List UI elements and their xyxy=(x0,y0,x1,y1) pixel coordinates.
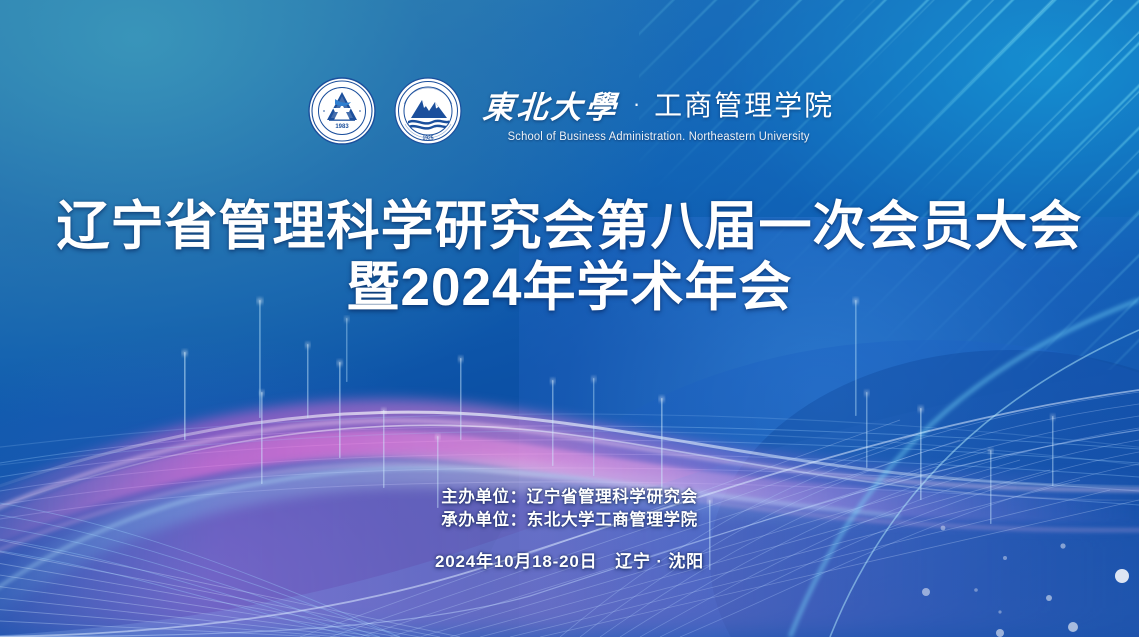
university-name-block: 東北大學 · 工商管理学院 School of Business Adminis… xyxy=(483,80,834,143)
organizer-organization-line: 承办单位：东北大学工商管理学院 xyxy=(0,509,1139,532)
svg-text:1983: 1983 xyxy=(335,124,349,130)
name-separator-dot: · xyxy=(631,93,642,115)
footer-info-block: 主办单位：辽宁省管理科学研究会 承办单位：东北大学工商管理学院 2024年10月… xyxy=(0,486,1139,572)
logo-header-row: 1983 xyxy=(0,74,1139,148)
date-location-line: 2024年10月18-20日 辽宁 · 沈阳 xyxy=(0,547,1139,572)
title-line-1: 辽宁省管理科学研究会第八届一次会员大会 xyxy=(0,196,1139,257)
title-line-2: 暨2024年学术年会 xyxy=(0,257,1139,318)
page-title: 辽宁省管理科学研究会第八届一次会员大会 暨2024年学术年会 xyxy=(0,196,1139,318)
university-name-cn: 東北大學 xyxy=(481,82,620,127)
neu-crest-icon: 1925 xyxy=(391,74,465,148)
host-organization-line: 主办单位：辽宁省管理科学研究会 xyxy=(0,486,1139,509)
college-name-cn: 工商管理学院 xyxy=(654,84,834,124)
english-institution-name: School of Business Administration. North… xyxy=(507,131,809,143)
conference-banner: 1983 xyxy=(0,0,1139,637)
society-crest-icon: 1983 xyxy=(305,74,379,148)
svg-text:1925: 1925 xyxy=(422,136,433,142)
